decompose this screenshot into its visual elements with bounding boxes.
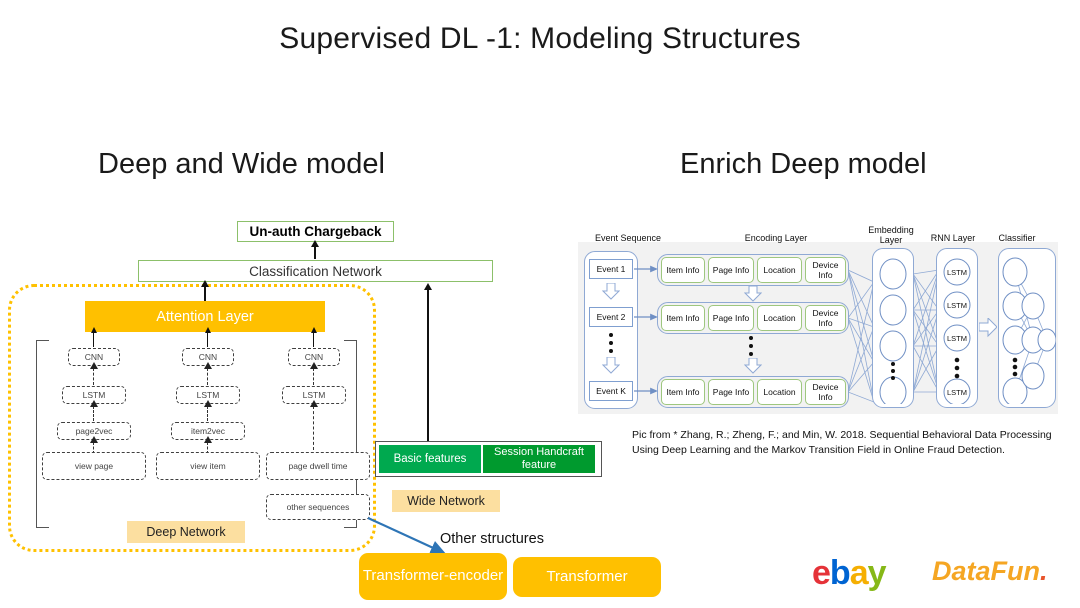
datafun-wordmark: DataFun — [932, 556, 1040, 586]
rnn-to-classifier-arrow-icon — [979, 318, 997, 338]
col1-view-page-box: view page — [42, 452, 146, 480]
event-ellipsis-icon — [609, 333, 613, 353]
event-box-1: Event 1 — [589, 259, 633, 279]
transformer-box[interactable]: Transformer — [513, 557, 661, 597]
col3-page-dwell-time-box: page dwell time — [266, 452, 370, 480]
header-rnn-layer: RNN Layer — [925, 233, 981, 243]
dash-col3-input-to-lstm — [313, 406, 314, 450]
rowk-device-info: Device Info — [805, 379, 846, 405]
arrow-col1-cnn-to-attention — [93, 332, 94, 347]
arrow-classification-to-output — [314, 246, 316, 259]
encoding-ellipsis-icon — [749, 336, 753, 356]
encoding-to-embedding-mesh — [848, 252, 874, 412]
rowk-page-info: Page Info — [708, 379, 754, 405]
down-arrow-event1-event2-icon — [602, 283, 620, 301]
classifier-nodes — [1000, 252, 1056, 404]
deep-columns-left-bracket — [36, 340, 49, 528]
event-box-2: Event 2 — [589, 307, 633, 327]
row1-device-info: Device Info — [805, 257, 846, 283]
transformer-encoder-box[interactable]: Transformer-encoder — [359, 553, 507, 600]
datafun-logo: DataFun. — [932, 558, 1048, 585]
deep-network-label: Deep Network — [127, 521, 245, 543]
classification-network-box: Classification Network — [138, 260, 493, 282]
datafun-dot: . — [1040, 556, 1048, 586]
svg-text:LSTM: LSTM — [947, 388, 967, 397]
svg-text:LSTM: LSTM — [947, 268, 967, 277]
row1-item-info: Item Info — [661, 257, 705, 283]
dash-col1-lstm-to-cnn — [93, 368, 94, 385]
dash-col2-embed-to-lstm — [207, 406, 208, 421]
down-arrow-encoding-2-k-icon — [744, 358, 762, 374]
page-title: Supervised DL -1: Modeling Structures — [0, 22, 1080, 56]
event-to-encoding-arrows — [632, 252, 662, 412]
right-section-title: Enrich Deep model — [680, 148, 927, 181]
rnn-lstm-nodes: LSTMLSTM LSTMLSTM — [939, 252, 975, 404]
arrow-col3-cnn-to-attention — [313, 332, 314, 347]
ebay-letter-y: y — [868, 554, 886, 592]
row2-location: Location — [757, 305, 802, 331]
un-auth-chargeback-box: Un-auth Chargeback — [237, 221, 394, 242]
header-classifier: Classifier — [986, 233, 1048, 243]
row2-item-info: Item Info — [661, 305, 705, 331]
other-structures-label: Other structures — [440, 531, 544, 547]
session-handcraft-feature-box: Session Handcraft feature — [483, 445, 595, 473]
arrow-col2-cnn-to-attention — [207, 332, 208, 347]
event-box-k: Event K — [589, 381, 633, 401]
row1-location: Location — [757, 257, 802, 283]
rowk-item-info: Item Info — [661, 379, 705, 405]
svg-text:LSTM: LSTM — [947, 301, 967, 310]
embedding-nodes — [876, 252, 910, 404]
dash-col1-embed-to-lstm — [93, 406, 94, 421]
down-arrow-event2-eventk-icon — [602, 357, 620, 375]
arrow-wide-to-classification — [427, 289, 429, 441]
ebay-letter-a: a — [850, 554, 868, 592]
ebay-letter-b: b — [830, 554, 850, 592]
row2-device-info: Device Info — [805, 305, 846, 331]
header-encoding-layer: Encoding Layer — [690, 233, 862, 243]
citation-text: Pic from * Zhang, R.; Zheng, F.; and Min… — [632, 428, 1060, 458]
col2-view-item-box: view item — [156, 452, 260, 480]
basic-features-box: Basic features — [379, 445, 481, 473]
header-embedding-layer: Embedding Layer — [862, 225, 920, 246]
dash-col3-lstm-to-cnn — [313, 368, 314, 385]
ebay-logo: ebay — [812, 556, 886, 590]
svg-text:LSTM: LSTM — [947, 334, 967, 343]
header-event-sequence: Event Sequence — [582, 233, 674, 243]
wide-network-label: Wide Network — [392, 490, 500, 512]
dash-col2-lstm-to-cnn — [207, 368, 208, 385]
row1-page-info: Page Info — [708, 257, 754, 283]
rowk-location: Location — [757, 379, 802, 405]
down-arrow-encoding-1-2-icon — [744, 286, 762, 302]
arrow-attention-to-classification — [204, 286, 206, 301]
ebay-letter-e: e — [812, 554, 830, 592]
row2-page-info: Page Info — [708, 305, 754, 331]
left-section-title: Deep and Wide model — [98, 148, 385, 181]
